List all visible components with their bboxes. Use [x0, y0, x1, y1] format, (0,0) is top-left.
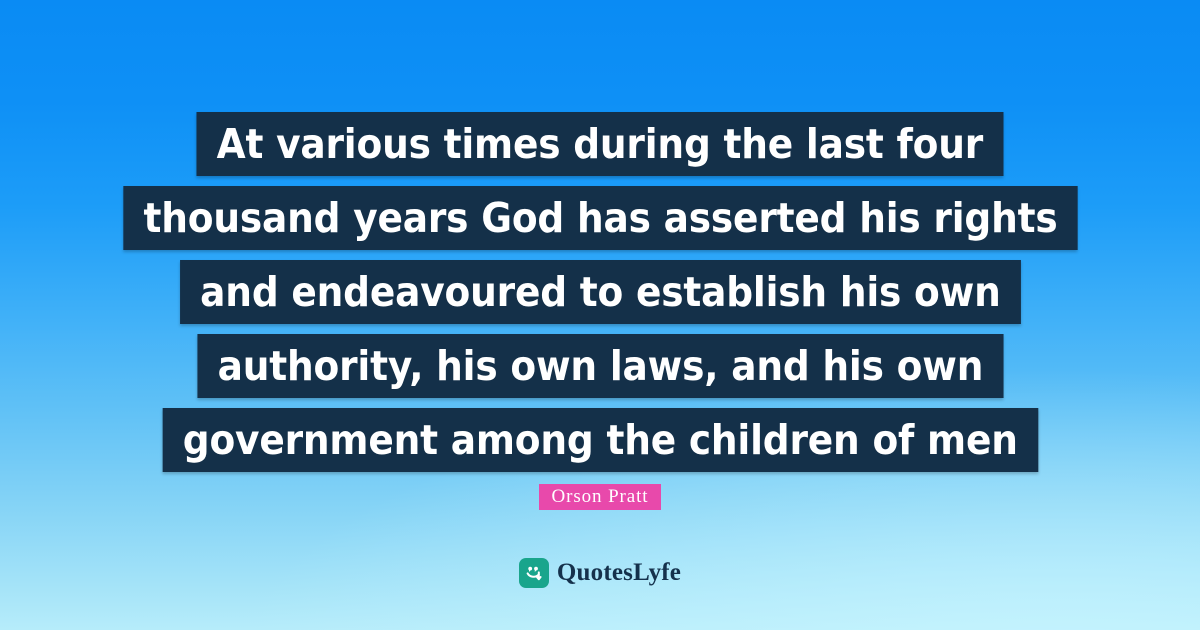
brand-name: QuotesLyfe: [557, 558, 681, 588]
quote-line: thousand years God has asserted his righ…: [123, 186, 1077, 250]
quote-line: At various times during the last four: [197, 112, 1004, 176]
quote-line: government among the children of men: [162, 408, 1037, 472]
author-attribution: Orson Pratt: [0, 484, 1200, 510]
quote-line: authority, his own laws, and his own: [197, 334, 1003, 398]
quote-smiley-icon: [519, 558, 549, 588]
quote-line: and endeavoured to establish his own: [180, 260, 1021, 324]
author-name-badge[interactable]: Orson Pratt: [539, 484, 662, 510]
quote-text-block: At various times during the last four th…: [0, 112, 1200, 472]
brand-logo[interactable]: QuotesLyfe: [0, 558, 1200, 588]
quote-card: At various times during the last four th…: [0, 0, 1200, 630]
